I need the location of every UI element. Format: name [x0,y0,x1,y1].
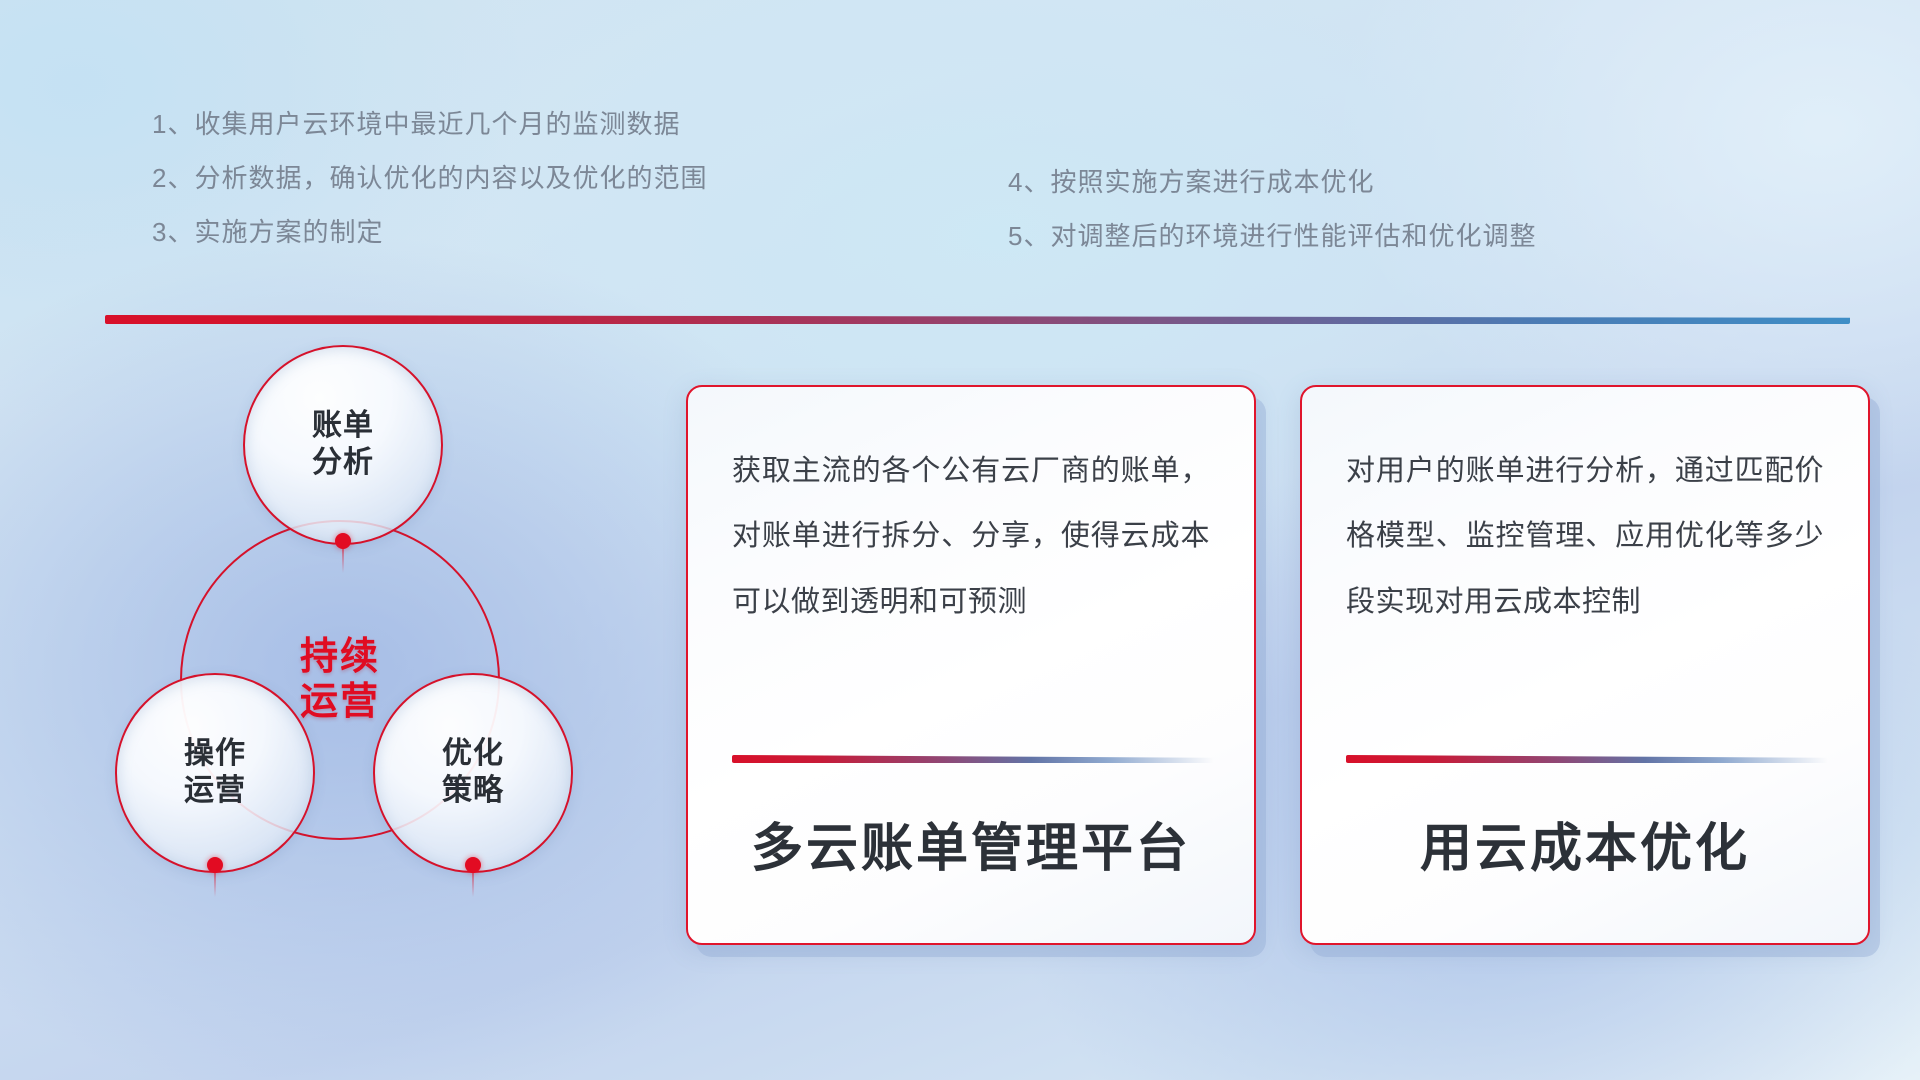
step-item-1: 1、收集用户云环境中最近几个月的监测数据 [152,97,707,151]
node-bill-analysis-label: 账单 分析 [312,408,374,481]
card-multicloud-billing-platform[interactable]: 获取主流的各个公有云厂商的账单，对账单进行拆分、分享，使得云成本可以做到透明和可… [686,385,1256,945]
node-optimization-strategy-label: 优化 策略 [442,736,504,809]
node-dot-left-icon [207,857,223,873]
center-label-line1: 持续 [300,635,380,680]
slide-canvas: 1、收集用户云环境中最近几个月的监测数据 2、分析数据，确认优化的内容以及优化的… [0,0,1920,1080]
card-cloud-cost-optimization[interactable]: 对用户的账单进行分析，通过匹配价格模型、监控管理、应用优化等多少段实现对用云成本… [1300,385,1870,945]
step-item-2: 2、分析数据，确认优化的内容以及优化的范围 [152,151,707,205]
node-dot-right-icon [465,857,481,873]
node-connector-tail-right [472,871,474,897]
node-dot-top-icon [335,533,351,549]
step-item-3: 3、实施方案的制定 [152,205,707,259]
node-label-line1: 优化 [442,736,504,773]
center-label-line2: 运营 [300,680,380,725]
node-operation-management[interactable]: 操作 运营 [115,673,315,873]
node-optimization-strategy[interactable]: 优化 策略 [373,673,573,873]
steps-list-left: 1、收集用户云环境中最近几个月的监测数据 2、分析数据，确认优化的内容以及优化的… [152,97,707,259]
node-bill-analysis[interactable]: 账单 分析 [243,345,443,545]
card-body-text: 获取主流的各个公有云厂商的账单，对账单进行拆分、分享，使得云成本可以做到透明和可… [732,439,1210,635]
node-label-line2: 运营 [184,773,246,810]
step-item-5: 5、对调整后的环境进行性能评估和优化调整 [1008,209,1536,263]
card-title: 用云成本优化 [1302,806,1868,881]
card-divider-rule [1346,755,1828,763]
node-label-line1: 账单 [312,408,374,445]
node-connector-tail-top [342,547,344,573]
continuous-operation-diagram: 持续 运营 账单 分析 操作 运营 优化 策略 [95,345,655,955]
card-body-text: 对用户的账单进行分析，通过匹配价格模型、监控管理、应用优化等多少段实现对用云成本… [1346,439,1824,635]
node-label-line2: 分析 [312,445,374,482]
node-label-line2: 策略 [442,773,504,810]
card-divider-rule [732,755,1214,763]
node-label-line1: 操作 [184,736,246,773]
section-divider-rule [105,315,1850,324]
node-connector-tail-left [214,871,216,897]
steps-list-right: 4、按照实施方案进行成本优化 5、对调整后的环境进行性能评估和优化调整 [1008,155,1536,263]
node-operation-management-label: 操作 运营 [184,736,246,809]
step-item-4: 4、按照实施方案进行成本优化 [1008,155,1536,209]
card-title: 多云账单管理平台 [688,806,1254,881]
